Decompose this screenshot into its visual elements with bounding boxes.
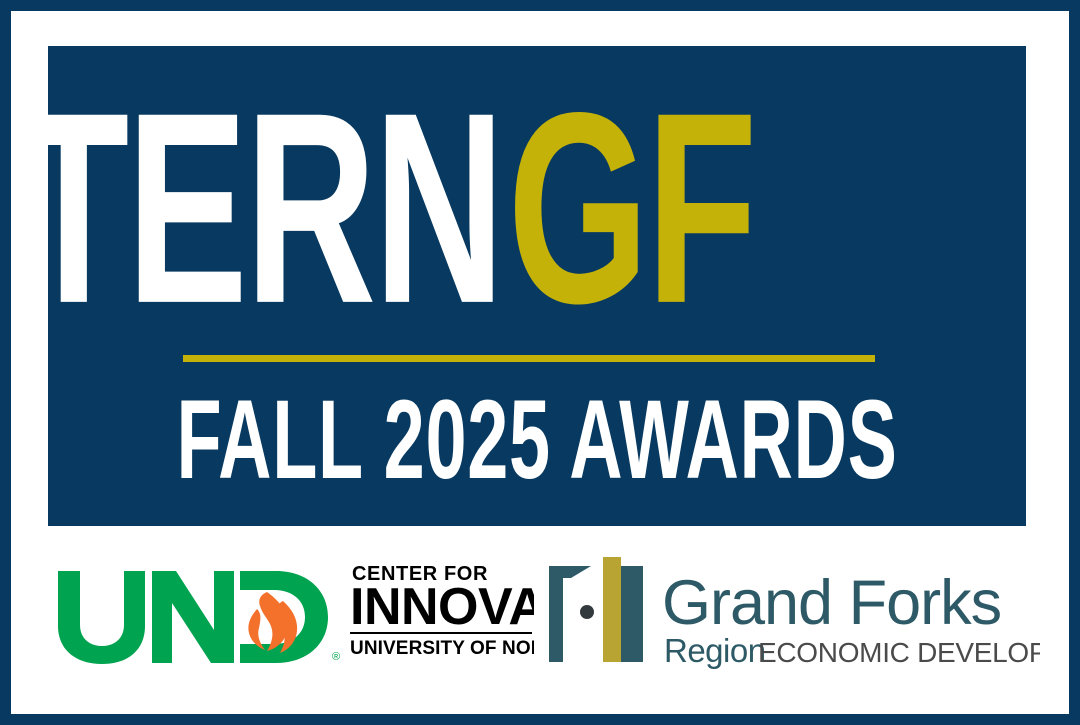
subtitle-text: FALL 2025 AWARDS [176, 386, 897, 491]
und-divider-rule [350, 632, 532, 634]
poster-canvas: INTERN GF FALL 2025 AWARDS [0, 0, 1080, 725]
wordmark-intern-text: INTERN [48, 92, 502, 322]
hero-subtitle: FALL 2025 AWARDS [48, 386, 1026, 491]
und-center-for-innovation-logo[interactable]: ® CENTER FOR INNOVATION UNIVERSITY OF NO… [44, 557, 534, 667]
partner-logo-strip: ® CENTER FOR INNOVATION UNIVERSITY OF NO… [44, 548, 1034, 676]
und-registered-mark: ® [332, 651, 340, 663]
hero-navy-panel: INTERN GF FALL 2025 AWARDS [48, 46, 1026, 526]
gf-bracket-mark-icon [549, 557, 643, 662]
gf-name-text: Grand Forks [662, 568, 1001, 638]
interngf-wordmark: INTERN GF [48, 92, 1026, 322]
und-title-text: INNOVATION [350, 578, 534, 636]
und-footer-text: UNIVERSITY OF NORTH DAKOTA. [350, 638, 534, 659]
grand-forks-region-economic-development-logo[interactable]: Grand Forks Region ECONOMIC DEVELOPMENT [540, 552, 1040, 672]
gold-divider-rule [183, 355, 875, 362]
gf-tagline-text: ECONOMIC DEVELOPMENT [758, 637, 1040, 668]
gf-region-text: Region [664, 632, 766, 669]
wordmark-gf-text: GF [508, 92, 755, 322]
und-flame-icon [248, 592, 297, 653]
